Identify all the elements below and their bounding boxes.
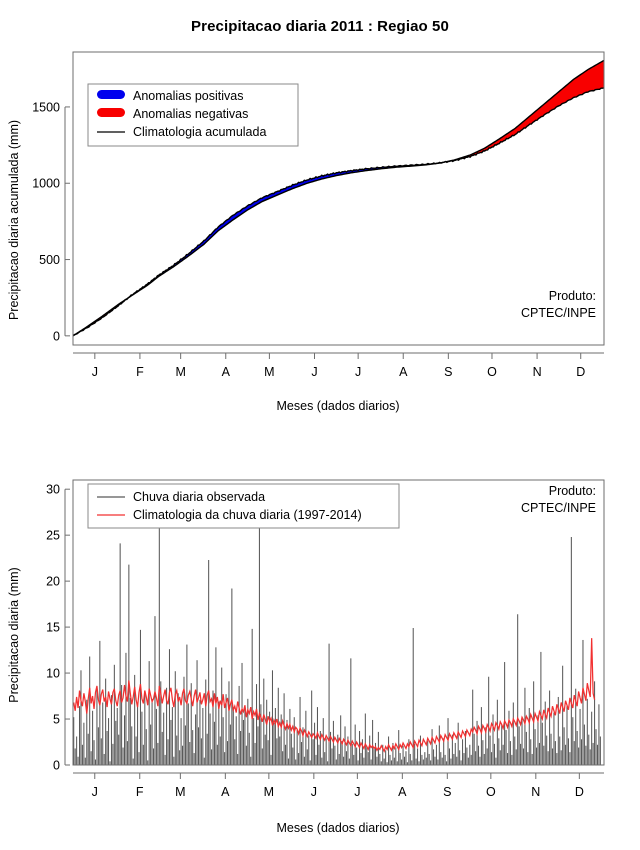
top-x-tick-label: J bbox=[92, 365, 98, 379]
bottom-x-tick-label: D bbox=[575, 785, 584, 799]
legend-label-bottom-0: Chuva diaria observada bbox=[133, 490, 265, 504]
top-x-tick-label: S bbox=[444, 365, 452, 379]
top-y-tick-label: 1500 bbox=[32, 100, 60, 114]
bottom-x-tick-label: M bbox=[264, 785, 274, 799]
top-y-tick-label: 1000 bbox=[32, 177, 60, 191]
accumulated-precipitation-chart: 050010001500JFMAMJJASOND Anomalias posit… bbox=[0, 40, 640, 460]
produto-label-line2-bottom: CPTEC/INPE bbox=[521, 501, 596, 515]
daily-precipitation-chart: 051015202530JFMAMJJASOND Chuva diaria ob… bbox=[0, 460, 640, 850]
bottom-x-tick-label: A bbox=[398, 785, 407, 799]
legend-label-0: Anomalias positivas bbox=[133, 89, 243, 103]
bottom-y-tick-label: 10 bbox=[46, 667, 60, 681]
bottom-x-tick-label: J bbox=[311, 785, 317, 799]
produto-label-line1: Produto: bbox=[549, 289, 596, 303]
top-x-tick-label: J bbox=[355, 365, 361, 379]
top-x-tick-label: O bbox=[487, 365, 497, 379]
legend-marker-1 bbox=[97, 108, 125, 117]
legend-marker-0 bbox=[97, 90, 125, 99]
top-x-tick-label: J bbox=[311, 365, 317, 379]
bottom-x-tick-label: F bbox=[136, 785, 144, 799]
bottom-y-tick-label: 15 bbox=[46, 621, 60, 635]
produto-label-line1-bottom: Produto: bbox=[549, 484, 596, 498]
top-x-tick-label: A bbox=[222, 365, 231, 379]
bottom-y-tick-label: 0 bbox=[53, 759, 60, 773]
legend-label-bottom-1: Climatologia da chuva diaria (1997-2014) bbox=[133, 508, 362, 522]
bottom-x-tick-label: J bbox=[354, 785, 360, 799]
daily-chart-svg: 051015202530JFMAMJJASOND Chuva diaria ob… bbox=[0, 460, 640, 850]
negative-anomaly-band bbox=[453, 60, 604, 161]
bottom-x-tick-label: S bbox=[443, 785, 451, 799]
top-x-axis-label: Meses (dados diarios) bbox=[277, 399, 400, 413]
bottom-x-tick-label: O bbox=[486, 785, 496, 799]
bottom-y-axis-label: Precipitacao diaria (mm) bbox=[7, 567, 21, 702]
top-y-tick-label: 0 bbox=[53, 329, 60, 343]
positive-anomaly-band bbox=[134, 163, 435, 294]
bottom-y-tick-label: 30 bbox=[46, 483, 60, 497]
figure-page: Precipitacao diaria 2011 : Regiao 50 050… bbox=[0, 0, 640, 850]
top-y-axis-label: Precipitacao diaria acumulada (mm) bbox=[7, 120, 21, 320]
legend-label-1: Anomalias negativas bbox=[133, 107, 248, 121]
top-x-tick-label: N bbox=[533, 365, 542, 379]
bottom-x-tick-label: M bbox=[175, 785, 185, 799]
bottom-x-tick-label: N bbox=[531, 785, 540, 799]
produto-label-line2: CPTEC/INPE bbox=[521, 306, 596, 320]
top-x-tick-label: D bbox=[576, 365, 585, 379]
bottom-y-tick-label: 20 bbox=[46, 575, 60, 589]
bottom-x-axis-label: Meses (dados diarios) bbox=[277, 821, 400, 835]
bottom-x-tick-label: J bbox=[92, 785, 98, 799]
accumulated-chart-svg: 050010001500JFMAMJJASOND Anomalias posit… bbox=[0, 40, 640, 460]
legend-label-2: Climatologia acumulada bbox=[133, 125, 266, 139]
bottom-y-tick-label: 25 bbox=[46, 529, 60, 543]
page-title: Precipitacao diaria 2011 : Regiao 50 bbox=[0, 18, 640, 35]
top-x-tick-label: M bbox=[175, 365, 185, 379]
top-x-tick-label: F bbox=[136, 365, 144, 379]
top-y-tick-label: 500 bbox=[39, 253, 60, 267]
top-x-tick-label: M bbox=[264, 365, 274, 379]
bottom-y-tick-label: 5 bbox=[53, 713, 60, 727]
top-x-tick-label: A bbox=[399, 365, 408, 379]
bottom-x-tick-label: A bbox=[221, 785, 230, 799]
